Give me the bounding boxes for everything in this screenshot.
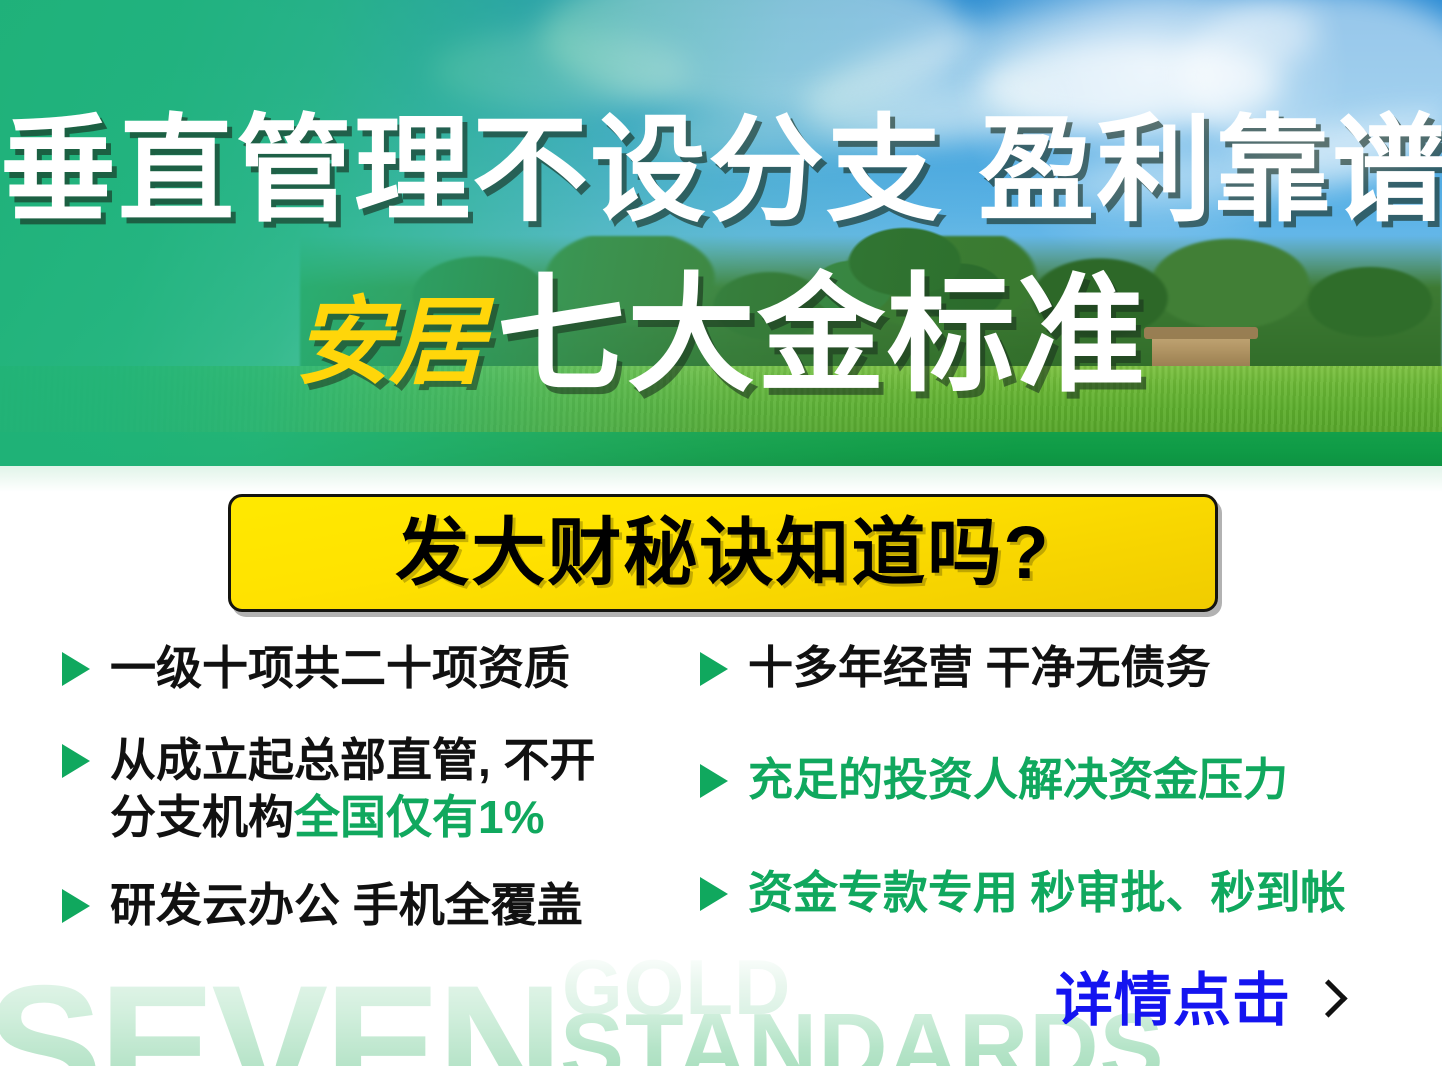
list-item: 从成立起总部直管, 不开分支机构全国仅有1%	[62, 732, 682, 847]
feature-column-left: 一级十项共二十项资质 从成立起总部直管, 不开分支机构全国仅有1% 研发云办公 …	[62, 640, 682, 934]
details-cta-link[interactable]: 详情点击	[1055, 972, 1339, 1030]
list-item: 十多年经营 干净无债务	[700, 640, 1400, 696]
headline-seven-gold-standards: 七大金标准	[497, 272, 1147, 400]
feature-text-line1: 从成立起总部直管, 不开	[110, 734, 596, 786]
question-banner-text: 发大财秘诀知道吗?	[395, 516, 1050, 590]
brand-word-anju: 安居	[295, 294, 483, 390]
feature-column-right: 十多年经营 干净无债务 充足的投资人解决资金压力 资金专款专用 秒审批、秒到帐	[700, 640, 1400, 921]
feature-text-highlight: 全国仅有1%	[294, 791, 544, 843]
feature-text: 从成立起总部直管, 不开分支机构全国仅有1%	[110, 732, 596, 847]
list-item: 资金专款专用 秒审批、秒到帐	[700, 865, 1400, 921]
triangle-bullet-icon	[700, 877, 728, 911]
feature-list: 一级十项共二十项资质 从成立起总部直管, 不开分支机构全国仅有1% 研发云办公 …	[0, 640, 1442, 980]
headline-line-2: 安居七大金标准	[0, 272, 1442, 400]
hero-bottom-fade	[0, 466, 1442, 492]
cta-label: 详情点击	[1055, 972, 1291, 1030]
headline-line-1: 垂直管理不设分支 盈利靠谱	[0, 112, 1442, 228]
triangle-bullet-icon	[62, 652, 90, 686]
advertisement-banner: 垂直管理不设分支 盈利靠谱 安居七大金标准 发大财秘诀知道吗? SEVEN GO…	[0, 0, 1442, 1066]
feature-text: 资金专款专用 秒审批、秒到帐	[748, 865, 1346, 921]
list-item: 一级十项共二十项资质	[62, 640, 682, 698]
feature-text: 十多年经营 干净无债务	[748, 640, 1211, 696]
feature-text: 充足的投资人解决资金压力	[748, 752, 1288, 808]
question-banner[interactable]: 发大财秘诀知道吗?	[228, 494, 1218, 612]
feature-text: 研发云办公 手机全覆盖	[110, 877, 583, 935]
feature-text: 一级十项共二十项资质	[110, 640, 570, 698]
feature-text-line2-plain: 分支机构	[110, 791, 294, 843]
chevron-right-icon	[1313, 979, 1339, 1023]
triangle-bullet-icon	[62, 744, 90, 778]
list-item: 充足的投资人解决资金压力	[700, 752, 1400, 808]
list-item: 研发云办公 手机全覆盖	[62, 877, 682, 935]
triangle-bullet-icon	[62, 889, 90, 923]
triangle-bullet-icon	[700, 764, 728, 798]
triangle-bullet-icon	[700, 652, 728, 686]
hero-section: 垂直管理不设分支 盈利靠谱 安居七大金标准	[0, 0, 1442, 466]
